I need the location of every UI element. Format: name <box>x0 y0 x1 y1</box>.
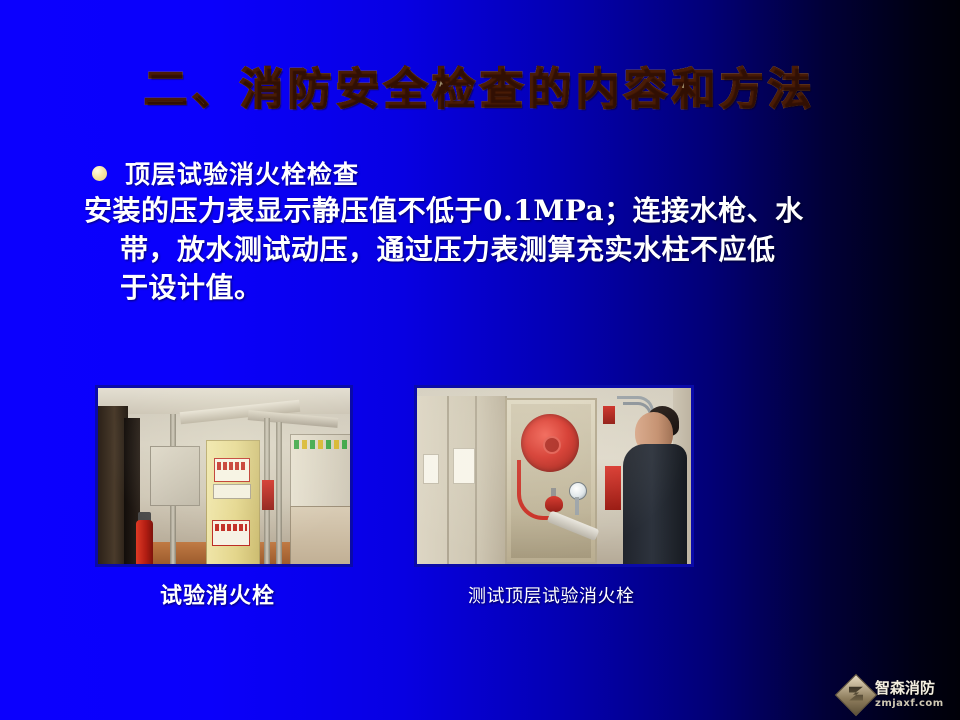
photo-test-hydrant <box>95 385 353 567</box>
photo-top-floor-test <box>414 385 694 567</box>
slide-title-container: 二、消防安全检查的内容和方法 <box>0 66 960 115</box>
page-title: 二、消防安全检查的内容和方法 <box>144 66 816 115</box>
body-line-3: 于设计值。 <box>84 269 934 308</box>
photo-lighting-overlay-right <box>417 388 691 564</box>
diamond-logo-icon <box>835 674 877 716</box>
body-line-1: 安装的压力表显示静压值不低于0.1MPa；连接水枪、水 <box>84 192 934 231</box>
photo-caption-right: 测试顶层试验消火栓 <box>468 582 635 608</box>
photo-caption-left: 试验消火栓 <box>160 578 275 610</box>
body-line-2: 带，放水测试动压，通过压力表测算充实水柱不应低 <box>84 231 934 270</box>
bullet-dot-icon <box>92 166 107 181</box>
presentation-slide: 二、消防安全检查的内容和方法 顶层试验消火栓检查 安装的压力表显示静压值不低于0… <box>0 0 960 720</box>
watermark: 智森消防 zmjaxf.com <box>841 678 953 712</box>
photo-test-hydrant-content <box>98 388 350 564</box>
watermark-text: 智森消防 zmjaxf.com <box>875 681 944 709</box>
watermark-brand-name: 智森消防 <box>875 681 944 696</box>
photo-lighting-overlay <box>98 388 350 564</box>
body-paragraph: 安装的压力表显示静压值不低于0.1MPa；连接水枪、水 带，放水测试动压，通过压… <box>84 192 934 308</box>
bullet-heading-label: 顶层试验消火栓检查 <box>125 155 359 191</box>
bullet-heading: 顶层试验消火栓检查 <box>92 155 359 191</box>
watermark-url: zmjaxf.com <box>875 699 944 709</box>
photo-top-floor-test-content <box>417 388 691 564</box>
